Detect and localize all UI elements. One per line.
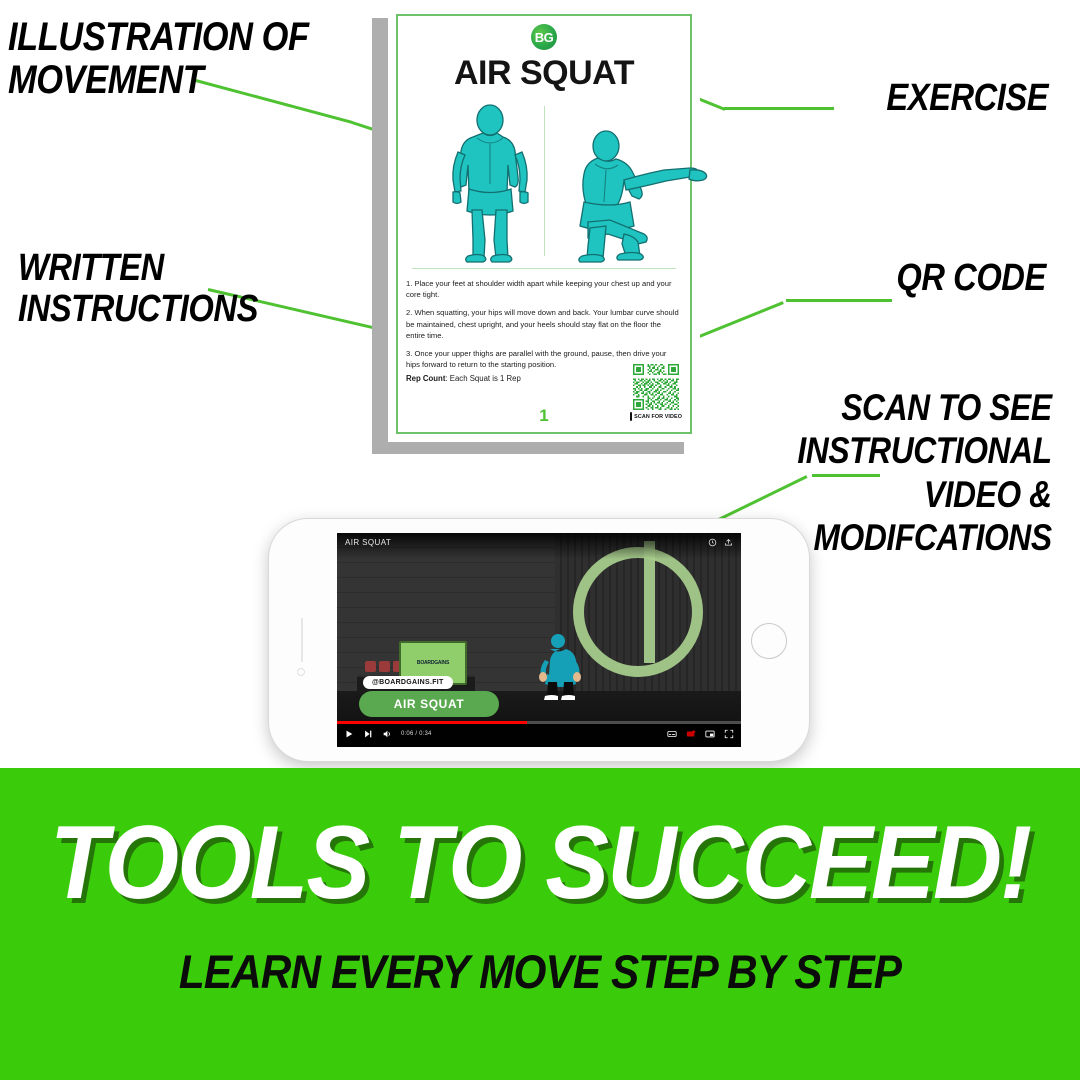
watch-later-icon[interactable] — [708, 538, 717, 547]
annotation-exercise: EXERCISE — [886, 78, 1048, 119]
video-progress-fill — [337, 721, 527, 724]
plate — [379, 661, 390, 672]
annotation-written-instructions: WRITTEN INSTRUCTIONS — [18, 248, 258, 330]
instruction-step-1: 1. Place your feet at shoulder width apa… — [406, 278, 682, 300]
share-icon[interactable] — [724, 538, 733, 547]
video-time-display: 0:06 / 0:34 — [401, 731, 432, 737]
video-top-bar: AIR SQUAT — [337, 533, 741, 559]
instagram-handle-pill: @BOARDGAINS.FIT — [363, 676, 453, 689]
video-top-icons[interactable] — [708, 538, 733, 547]
phone-speaker — [301, 618, 303, 662]
standing-figure — [436, 104, 544, 264]
miniplayer-icon[interactable] — [705, 729, 715, 739]
banner-subtitle: LEARN EVERY MOVE STEP BY STEP — [54, 944, 1026, 999]
volume-icon[interactable] — [382, 729, 392, 739]
exercise-name-pill: AIR SQUAT — [359, 691, 499, 717]
poster-canvas: ILLUSTRATION OF MOVEMENT WRITTEN INSTRUC… — [0, 0, 1080, 1080]
bottom-banner: TOOLS TO SUCCEED! LEARN EVERY MOVE STEP … — [0, 768, 1080, 1080]
phone-mockup: BOARDGAINS — [268, 518, 810, 762]
figure-divider — [544, 106, 545, 256]
athlete-squatting — [531, 632, 589, 700]
boardgains-logo-icon: BG — [531, 24, 557, 50]
movement-illustration — [402, 102, 686, 264]
leader-line-qrcode-2 — [786, 299, 892, 302]
board-label: BOARDGAINS — [417, 660, 449, 666]
plate — [365, 661, 376, 672]
wall-logo-bar — [644, 541, 655, 663]
video-player[interactable]: BOARDGAINS — [337, 533, 741, 747]
qr-code-icon[interactable] — [633, 364, 679, 410]
leader-line-exercise-2 — [724, 107, 834, 110]
phone-front-camera — [297, 668, 305, 676]
instruction-step-2: 2. When squatting, your hips will move d… — [406, 307, 682, 341]
squatting-figure — [562, 124, 712, 264]
settings-icon[interactable] — [686, 729, 696, 739]
rep-count-label: Rep Count — [406, 374, 445, 383]
phone-home-button[interactable] — [751, 623, 787, 659]
banner-title: TOOLS TO SUCCEED! — [43, 804, 1037, 923]
wall-logo-circle — [573, 547, 703, 677]
card-title: AIR SQUAT — [388, 54, 700, 93]
rep-count-line: Rep Count: Each Squat is 1 Rep — [406, 374, 521, 383]
subtitles-icon[interactable] — [667, 729, 677, 739]
play-icon[interactable] — [344, 729, 354, 739]
annotation-illustration-of-movement: ILLUSTRATION OF MOVEMENT — [8, 16, 309, 102]
annotation-scan-to-see: SCAN TO SEE INSTRUCTIONAL VIDEO & MODIFC… — [798, 386, 1052, 559]
page-number: 1 — [388, 406, 700, 426]
card-horizontal-rule — [412, 268, 676, 269]
video-progress-bar[interactable] — [337, 721, 741, 724]
annotation-qr-code: QR CODE — [896, 258, 1046, 299]
video-title: AIR SQUAT — [345, 538, 391, 547]
video-controls-bar[interactable]: 0:06 / 0:34 — [337, 721, 741, 747]
fullscreen-icon[interactable] — [724, 729, 734, 739]
next-icon[interactable] — [363, 729, 373, 739]
written-instructions: 1. Place your feet at shoulder width apa… — [406, 278, 682, 378]
exercise-card: BG AIR SQUAT — [388, 6, 700, 442]
rep-count-value: : Each Squat is 1 Rep — [445, 374, 520, 383]
